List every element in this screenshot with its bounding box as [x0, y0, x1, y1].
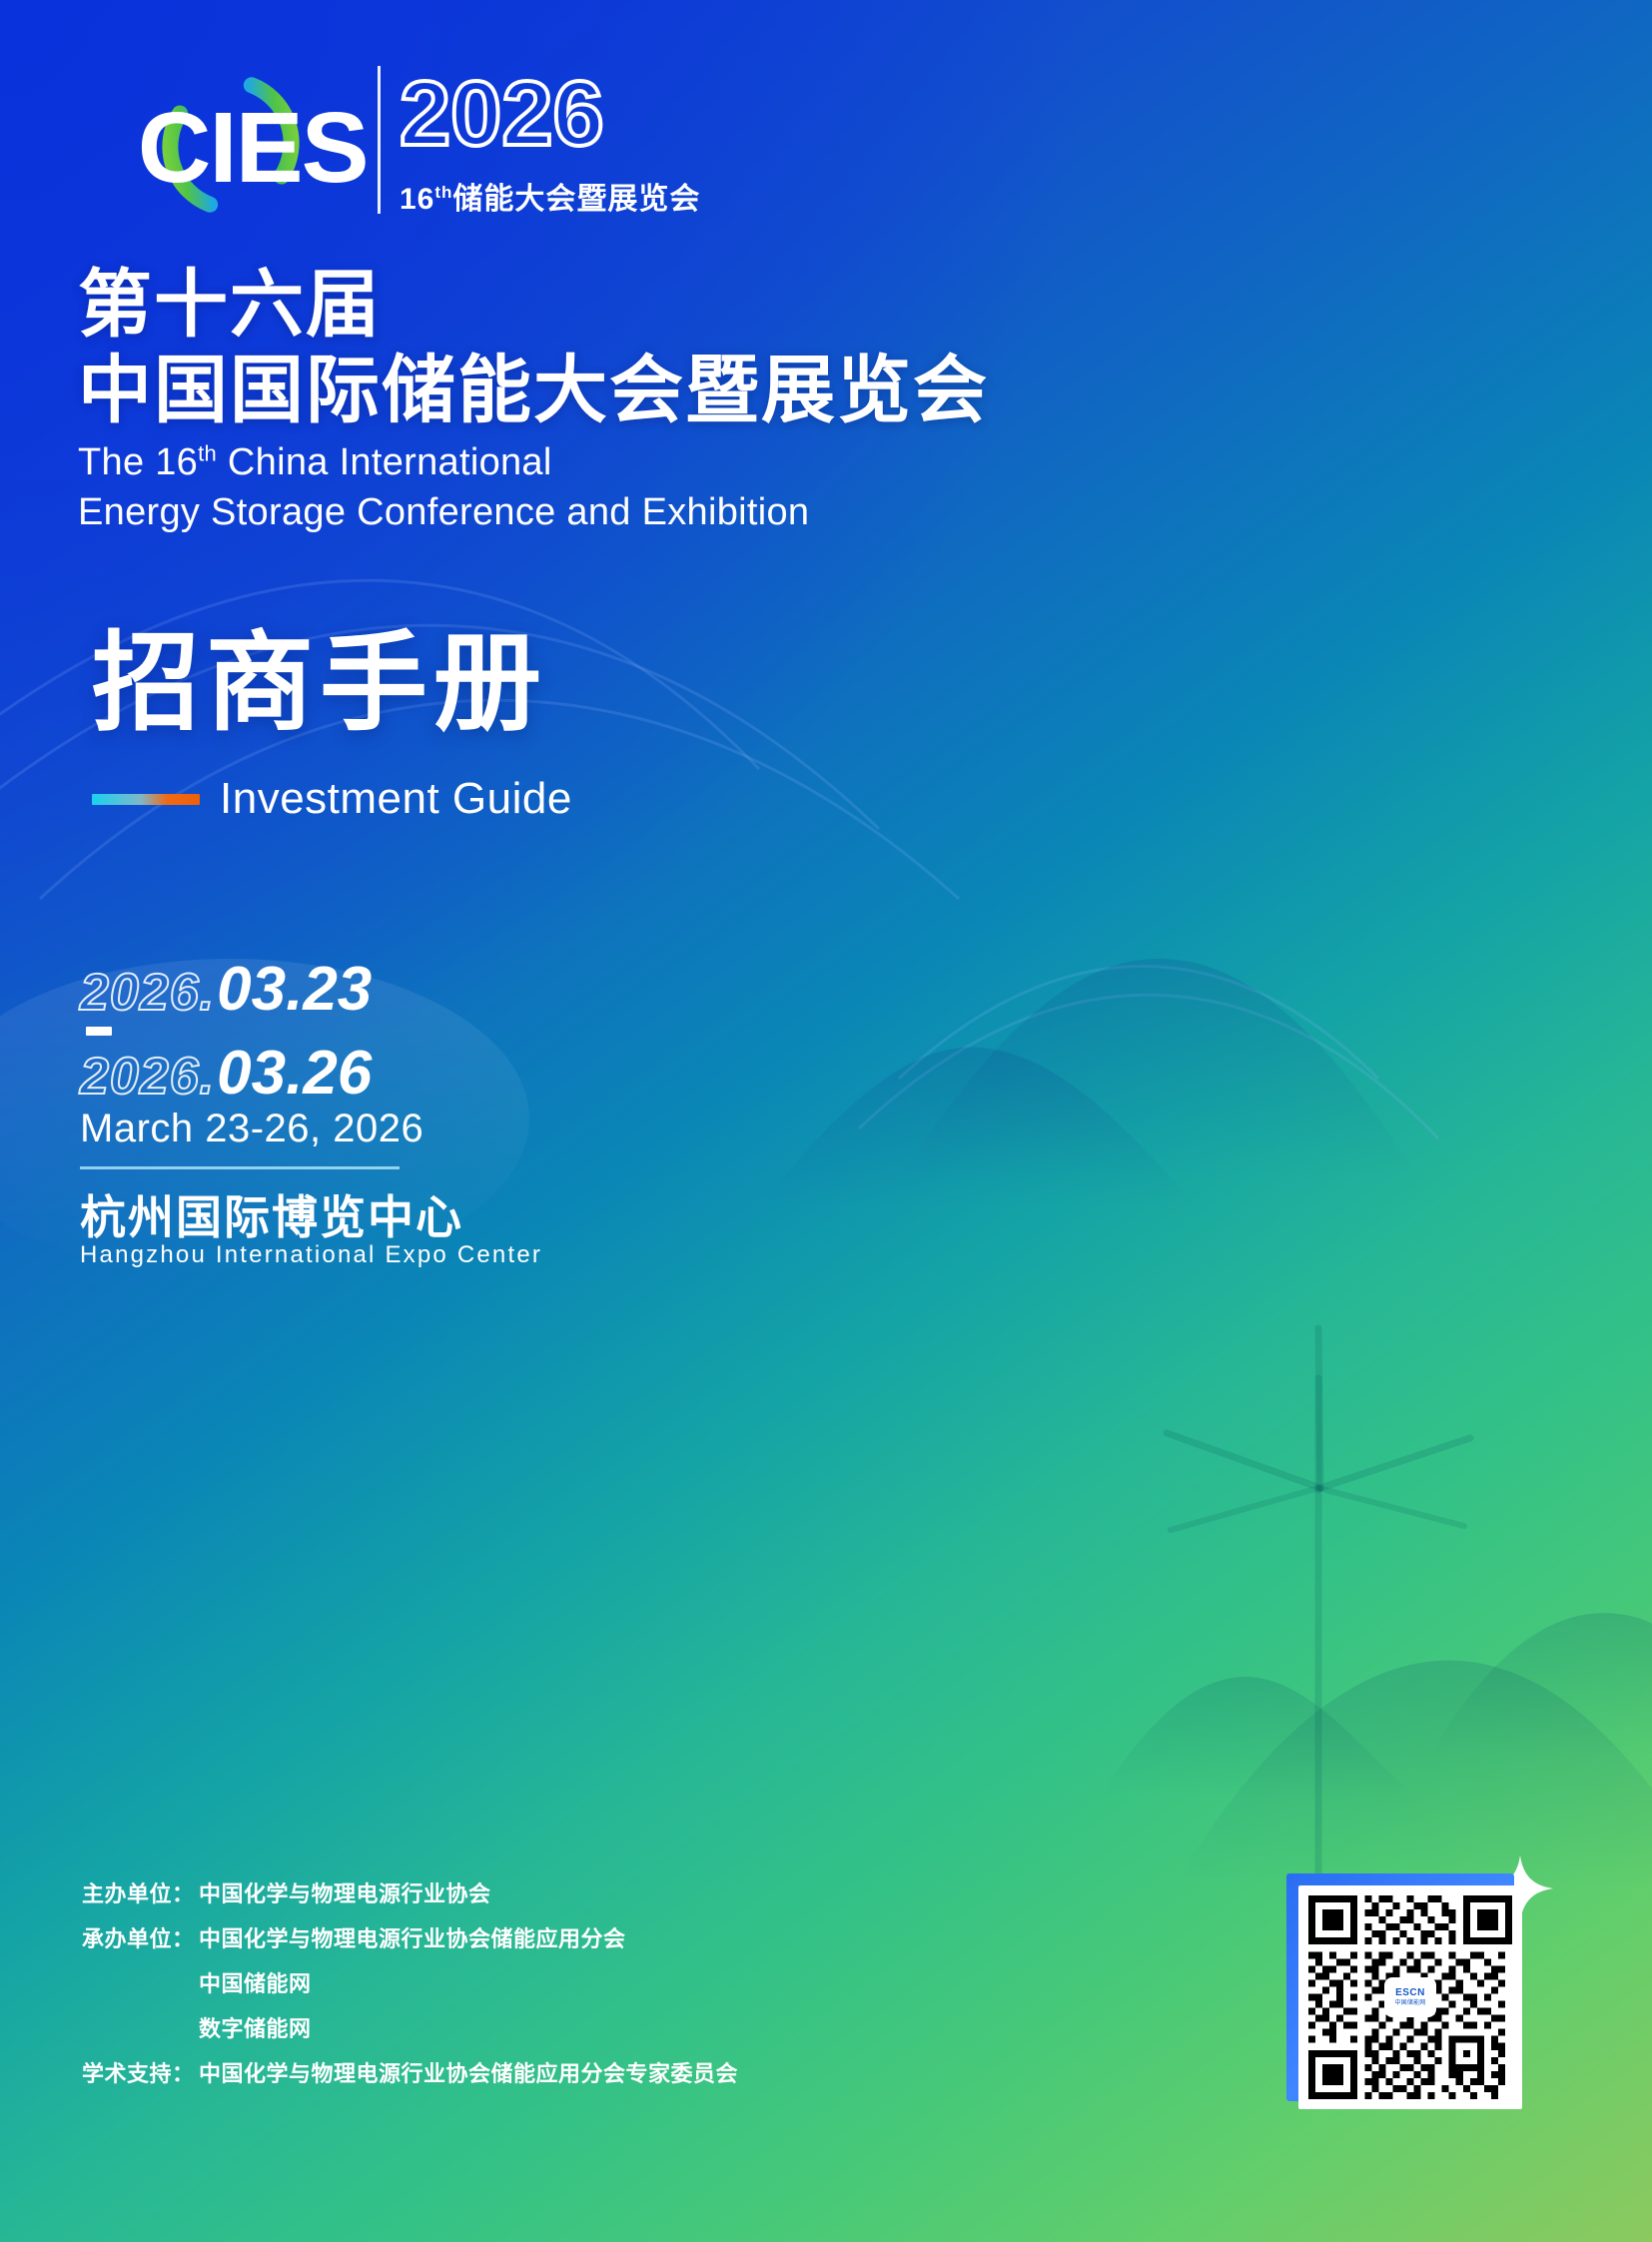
organizer-value: 数字储能网: [199, 2018, 312, 2040]
page-title-en-line2: Energy Storage Conference and Exhibition: [78, 487, 809, 537]
page-title-en-ordinal: th: [198, 440, 217, 465]
event-date-start-md: 03.23: [217, 954, 372, 1025]
page-title-en-post: China International: [217, 441, 552, 483]
event-date-end: 2026. 03.26: [80, 1038, 372, 1109]
event-date-start-year: 2026.: [80, 963, 215, 1023]
organizer-value: 中国化学与物理电源行业协会储能应用分会: [199, 1928, 626, 1950]
organizer-row: 承办单位： 数字储能网: [82, 2018, 738, 2040]
organizer-label: 学术支持：: [82, 2063, 199, 2085]
venue-name-en: Hangzhou International Expo Center: [80, 1241, 542, 1269]
organizer-value: 中国储能网: [199, 1973, 312, 1995]
venue-name-cn: 杭州国际博览中心: [80, 1181, 463, 1247]
organizer-label: 主办单位：: [82, 1883, 199, 1905]
event-date-start: 2026. 03.23: [80, 954, 372, 1025]
venue-divider: [80, 1166, 400, 1169]
page-title-en: The 16th China International Energy Stor…: [78, 437, 809, 537]
guide-title-en: Investment Guide: [220, 774, 572, 824]
qr-center-logo: ESCN 中国储能网: [1384, 1977, 1436, 2017]
logo-subtitle-ordinal: th: [434, 183, 452, 202]
logo-subtitle-cn: 储能大会暨展览会: [452, 183, 700, 216]
organizer-row: 主办单位： 中国化学与物理电源行业协会: [82, 1883, 738, 1905]
logo-divider: [378, 66, 381, 214]
qr-center-logo-mark: ESCN: [1395, 1988, 1425, 1998]
organizer-list: 主办单位： 中国化学与物理电源行业协会 承办单位： 中国化学与物理电源行业协会储…: [82, 1883, 738, 2108]
wind-turbine-decor: [1167, 1328, 1470, 1897]
organizer-row: 承办单位： 中国储能网: [82, 1973, 738, 1995]
qr-code-block[interactable]: ESCN 中国储能网: [1294, 1881, 1522, 2109]
mountain-silhouette-mid: [759, 959, 1418, 1208]
logo-subtitle: 16th储能大会暨展览会: [400, 174, 700, 218]
qr-code-card[interactable]: ESCN 中国储能网: [1298, 1885, 1522, 2109]
logo-subtitle-number: 16: [400, 183, 434, 216]
organizer-row: 承办单位： 中国化学与物理电源行业协会储能应用分会: [82, 1928, 738, 1950]
cies-logo: CIES 2026 16th储能大会暨展览会: [78, 62, 637, 222]
poster-page: CIES 2026 16th储能大会暨展览会 第十六届 中国国际储能大会暨展览会…: [0, 0, 1652, 2242]
organizer-value: 中国化学与物理电源行业协会储能应用分会专家委员会: [199, 2063, 738, 2085]
event-date-end-md: 03.26: [217, 1038, 372, 1109]
mountain-silhouette-foreground: [1099, 1613, 1652, 1887]
logo-year: 2026: [400, 68, 604, 160]
page-title-cn: 第十六届 中国国际储能大会暨展览会: [78, 262, 1177, 433]
page-title-cn-line2: 中国国际储能大会暨展览会: [78, 348, 1177, 433]
organizer-label: 承办单位：: [82, 1928, 199, 1950]
event-date-separator: [86, 1027, 112, 1036]
guide-title-row: Investment Guide: [92, 774, 572, 824]
guide-title-cn: 招商手册: [92, 629, 547, 737]
event-dates-en: March 23-26, 2026: [80, 1107, 423, 1151]
organizer-row: 学术支持： 中国化学与物理电源行业协会储能应用分会专家委员会: [82, 2063, 738, 2085]
page-title-en-pre: The 16: [78, 441, 198, 483]
event-date-end-year: 2026.: [80, 1047, 215, 1107]
qr-center-logo-cn: 中国储能网: [1394, 2000, 1425, 2006]
page-title-cn-line1: 第十六届: [78, 262, 1177, 348]
wind-turbine-blades: [1171, 1488, 1464, 1530]
logo-wordmark: CIES: [138, 98, 368, 198]
event-dates: 2026. 03.23 2026. 03.26: [80, 954, 372, 1109]
organizer-value: 中国化学与物理电源行业协会: [199, 1883, 491, 1905]
guide-accent-bar: [92, 794, 200, 805]
page-title-en-line1: The 16th China International: [78, 437, 809, 487]
